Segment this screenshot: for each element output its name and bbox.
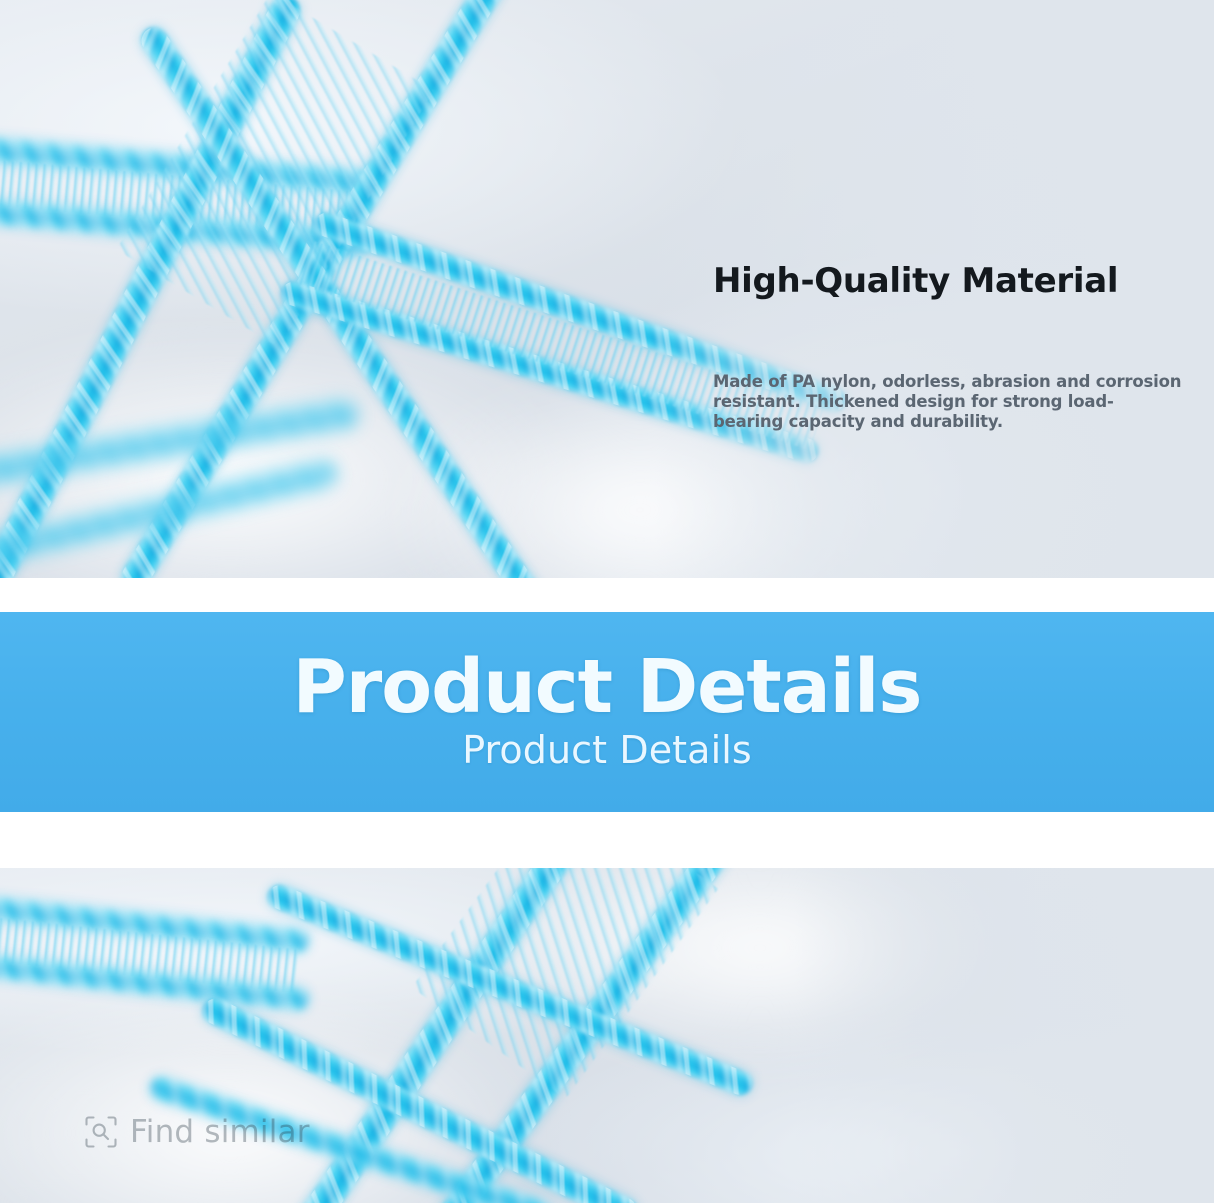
banner-title: Product Details bbox=[0, 612, 1214, 728]
find-similar-badge[interactable]: Find similar bbox=[84, 1115, 310, 1149]
bottom-product-image-section bbox=[0, 868, 1214, 1203]
feature-title: High-Quality Material bbox=[713, 261, 1118, 301]
separator-gap-top bbox=[0, 578, 1214, 612]
product-details-banner: Product Details Product Details bbox=[0, 612, 1214, 812]
bottom-photo-background bbox=[0, 868, 1214, 1203]
visual-search-icon bbox=[84, 1115, 118, 1149]
feature-description: Made of PA nylon, odorless, abrasion and… bbox=[713, 372, 1183, 432]
separator-gap-bottom bbox=[0, 812, 1214, 868]
top-product-image-section: High-Quality Material Made of PA nylon, … bbox=[0, 0, 1214, 578]
find-similar-label: Find similar bbox=[130, 1115, 310, 1149]
banner-subtitle: Product Details bbox=[0, 728, 1214, 772]
